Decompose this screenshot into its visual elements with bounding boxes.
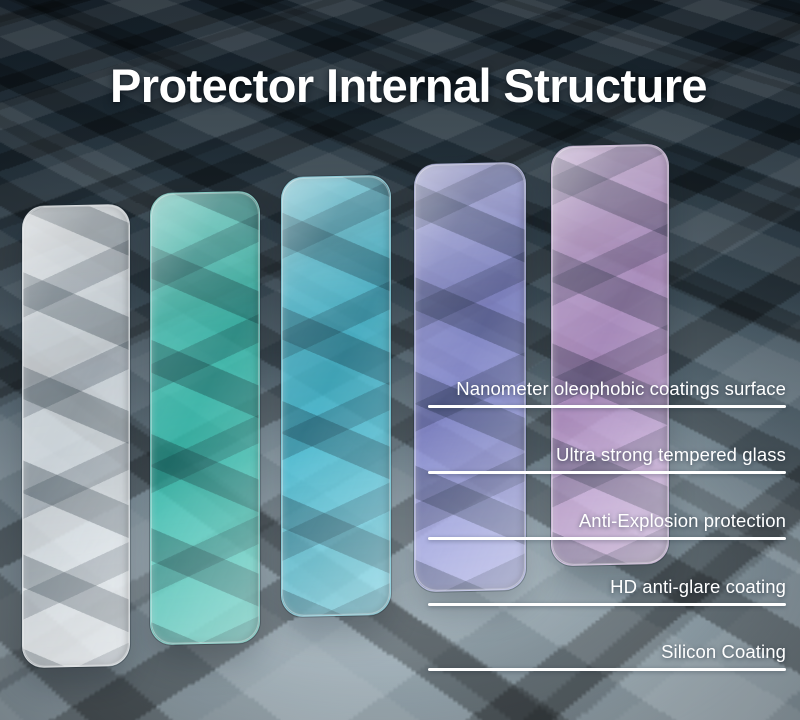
callout-underline	[428, 405, 786, 408]
callout-silicon-coating: Silicon Coating	[428, 637, 786, 671]
callout-underline	[428, 603, 786, 606]
callout-underline	[428, 471, 786, 474]
callout-label: Anti-Explosion protection	[579, 510, 786, 532]
callout-label: Ultra strong tempered glass	[556, 444, 786, 466]
clear-glass-panel	[22, 204, 130, 668]
glass-edge-highlight	[151, 192, 259, 644]
glass-edge-highlight	[23, 205, 129, 667]
callout-underline	[428, 668, 786, 671]
callout-underline	[428, 537, 786, 540]
glass-edge-highlight	[282, 176, 390, 616]
callout-anti-explosion: Anti-Explosion protection	[428, 506, 786, 540]
callout-hd-anti-glare: HD anti-glare coating	[428, 572, 786, 606]
page-title: Protector Internal Structure	[110, 58, 707, 113]
teal-glass-panel	[150, 191, 260, 645]
infographic-canvas: Protector Internal Structure Nanometer o…	[0, 0, 800, 720]
callout-label: Silicon Coating	[661, 641, 786, 663]
cyan-glass-panel	[281, 175, 391, 617]
pink-glass-panel	[551, 144, 669, 566]
callout-nanometer-oleophobic: Nanometer oleophobic coatings surface	[428, 374, 786, 408]
callout-label: Nanometer oleophobic coatings surface	[456, 378, 786, 400]
glass-edge-highlight	[552, 145, 668, 565]
callout-label: HD anti-glare coating	[610, 576, 786, 598]
callout-tempered-glass: Ultra strong tempered glass	[428, 440, 786, 474]
